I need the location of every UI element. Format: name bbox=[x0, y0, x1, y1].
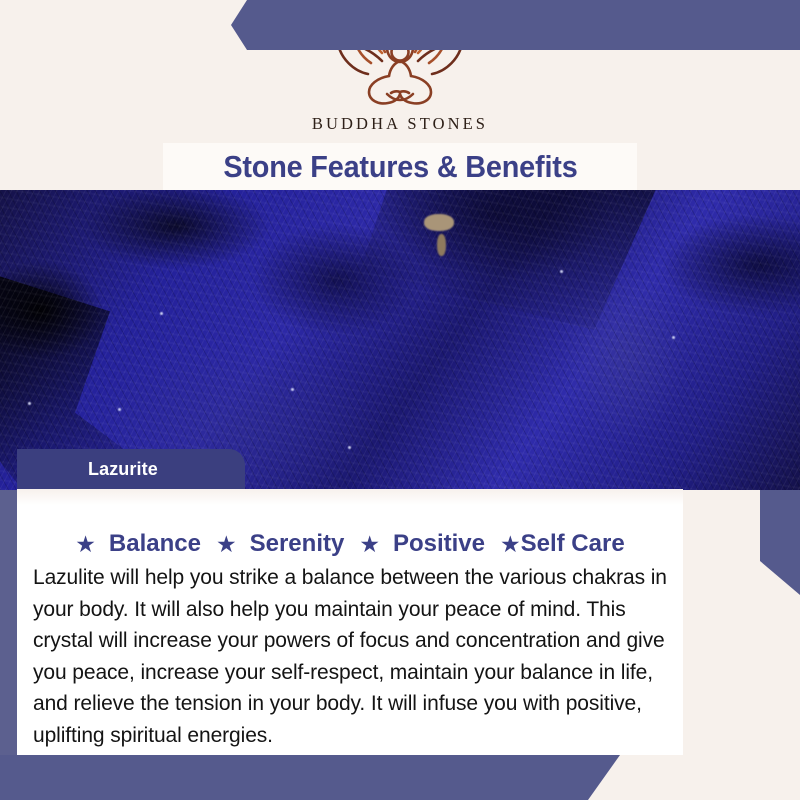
star-icon: ★ bbox=[75, 533, 96, 556]
photo-mineral-fleck bbox=[437, 234, 446, 256]
frame-bottom-accent bbox=[0, 755, 620, 800]
card-top-gradient-strip bbox=[17, 489, 683, 505]
photo-highlight-speck bbox=[348, 446, 351, 449]
benefit-keyword: Serenity bbox=[250, 530, 345, 558]
benefit-keywords-row: ★Balance★Serenity★Positive★Self Care bbox=[17, 530, 683, 558]
benefit-keyword: Balance bbox=[109, 530, 201, 558]
lazurite-stone-photo bbox=[0, 190, 800, 490]
stone-name-label: Lazurite bbox=[88, 459, 158, 480]
photo-highlight-speck bbox=[672, 336, 675, 339]
star-icon: ★ bbox=[359, 533, 380, 556]
content-card: ★Balance★Serenity★Positive★Self Care Laz… bbox=[17, 489, 683, 755]
title-banner: Stone Features & Benefits bbox=[163, 143, 637, 190]
frame-top-accent bbox=[215, 0, 800, 50]
photo-mineral-fleck bbox=[424, 214, 454, 231]
photo-texture-grain bbox=[0, 190, 800, 490]
photo-highlight-speck bbox=[28, 402, 31, 405]
stone-name-tab: Lazurite bbox=[17, 449, 245, 489]
photo-highlight-speck bbox=[118, 408, 121, 411]
photo-highlight-speck bbox=[160, 312, 163, 315]
photo-highlight-speck bbox=[560, 270, 563, 273]
benefit-keyword: Positive bbox=[393, 530, 485, 558]
page-title: Stone Features & Benefits bbox=[223, 149, 577, 185]
stone-description: Lazulite will help you strike a balance … bbox=[33, 562, 667, 751]
benefit-keyword: Self Care bbox=[521, 530, 625, 558]
photo-highlight-speck bbox=[291, 388, 294, 391]
frame-left-accent bbox=[0, 487, 17, 800]
brand-wordmark: BUDDHA STONES bbox=[0, 114, 800, 134]
star-icon: ★ bbox=[500, 533, 521, 556]
infographic-canvas: BUDDHA STONES Stone Features & Benefits … bbox=[0, 0, 800, 800]
star-icon: ★ bbox=[216, 533, 237, 556]
